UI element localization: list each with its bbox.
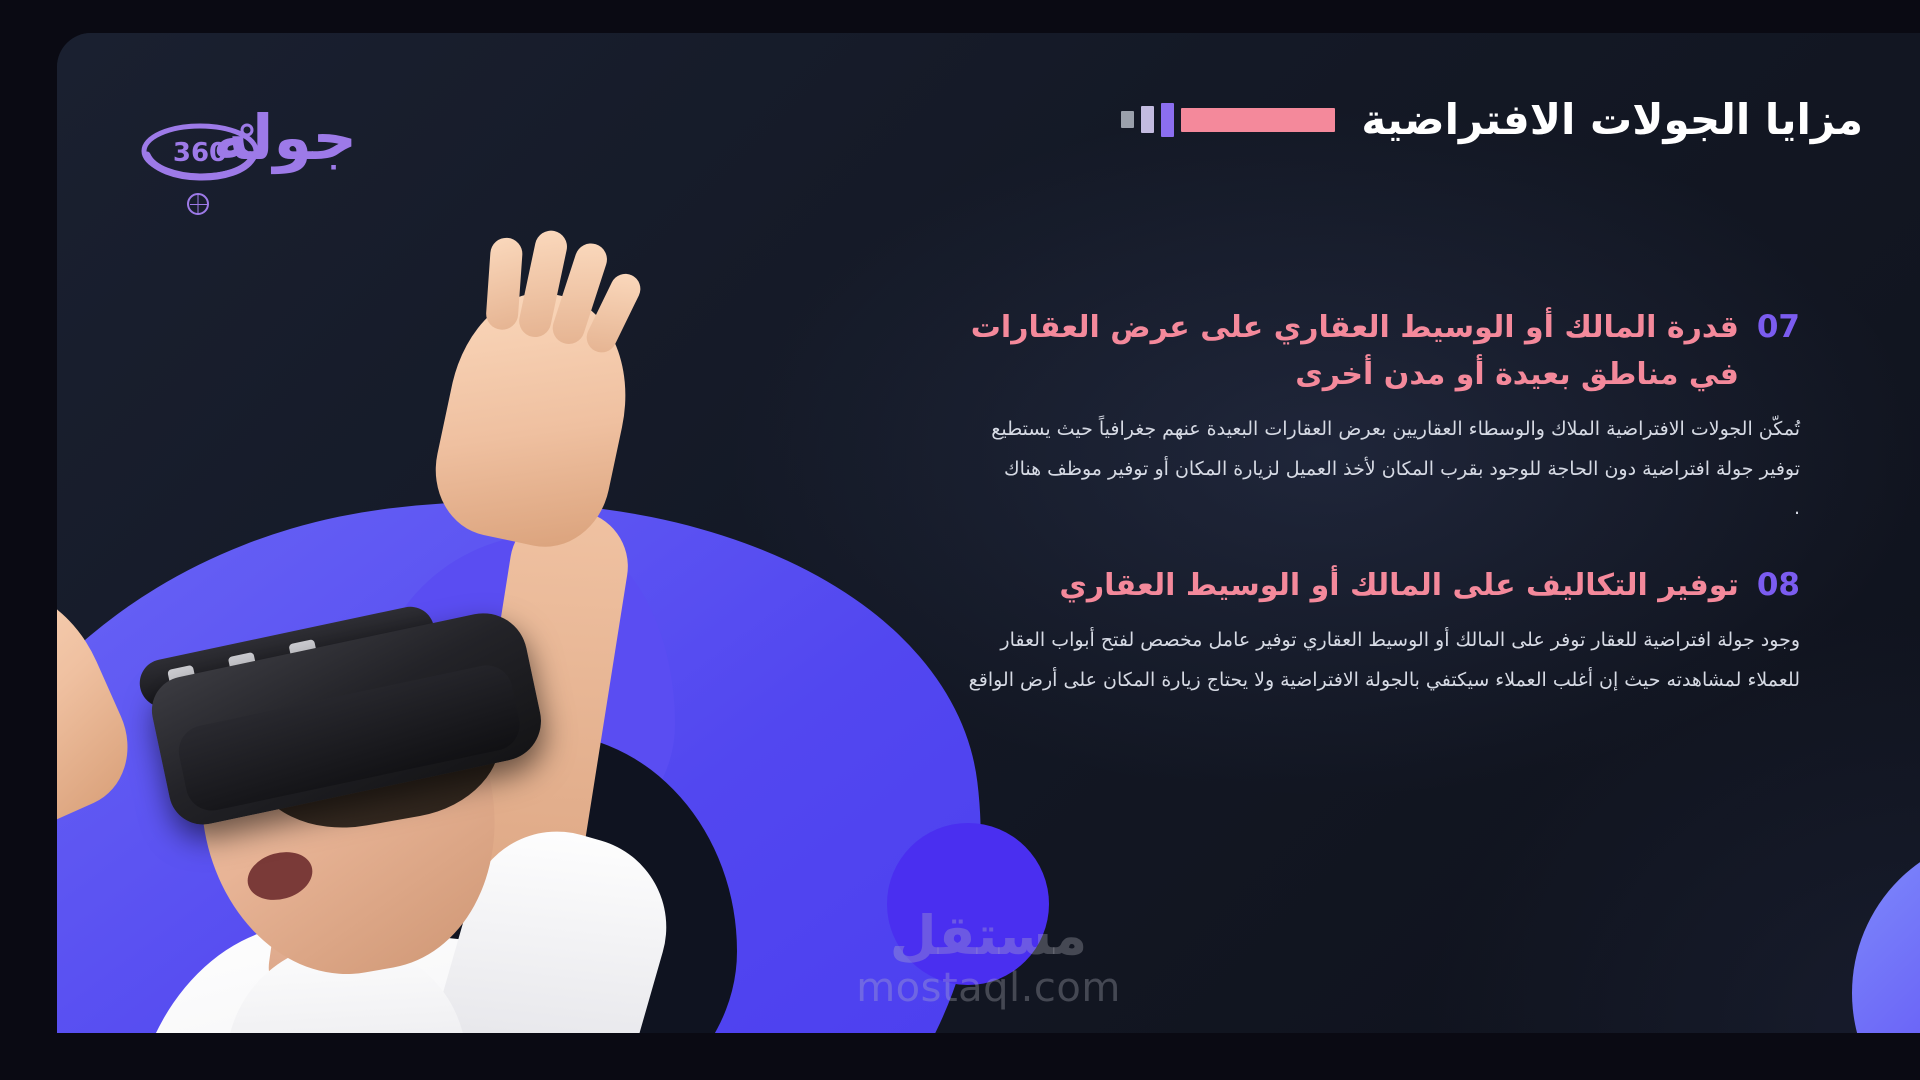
block-body-trailing: .	[1788, 497, 1800, 519]
block-heading-row: 07 قدرة المالك أو الوسيط العقاري على عرض…	[940, 305, 1800, 398]
bar-gray	[1121, 111, 1134, 128]
slide-root: جوله 360 مزايا الجولات الافتراضية	[0, 0, 1920, 1080]
brand-logo[interactable]: جوله 360	[139, 101, 469, 221]
bar-lavender	[1141, 106, 1154, 133]
globe-icon	[187, 193, 209, 215]
content-block-07: 07 قدرة المالك أو الوسيط العقاري على عرض…	[940, 305, 1800, 529]
content-card: جوله 360 مزايا الجولات الافتراضية	[57, 33, 1920, 1033]
header-title-row: مزايا الجولات الافتراضية	[1121, 95, 1863, 144]
block-body: تُمكّن الجولات الافتراضية الملاك والوسطا…	[940, 410, 1800, 489]
orbit-360-icon: 360	[139, 111, 261, 203]
block-title: توفير التكاليف على المالك أو الوسيط العق…	[940, 563, 1739, 610]
header-bar-decoration	[1121, 103, 1335, 137]
content-list: 07 قدرة المالك أو الوسيط العقاري على عرض…	[940, 305, 1800, 734]
bar-pink	[1181, 108, 1335, 132]
person-left-hand	[57, 559, 149, 847]
block-title: قدرة المالك أو الوسيط العقاري على عرض ال…	[940, 305, 1739, 398]
content-block-08: 08 توفير التكاليف على المالك أو الوسيط ا…	[940, 563, 1800, 701]
vr-person-photo	[57, 333, 917, 1033]
svg-text:360: 360	[173, 138, 227, 168]
block-number: 08	[1757, 563, 1800, 607]
page-title: مزايا الجولات الافتراضية	[1361, 95, 1863, 144]
block-heading-row: 08 توفير التكاليف على المالك أو الوسيط ا…	[940, 563, 1800, 610]
block-number: 07	[1757, 305, 1800, 349]
bar-purple	[1161, 103, 1174, 137]
block-body: وجود جولة افتراضية للعقار توفر على المال…	[940, 621, 1800, 700]
finger	[485, 237, 523, 331]
